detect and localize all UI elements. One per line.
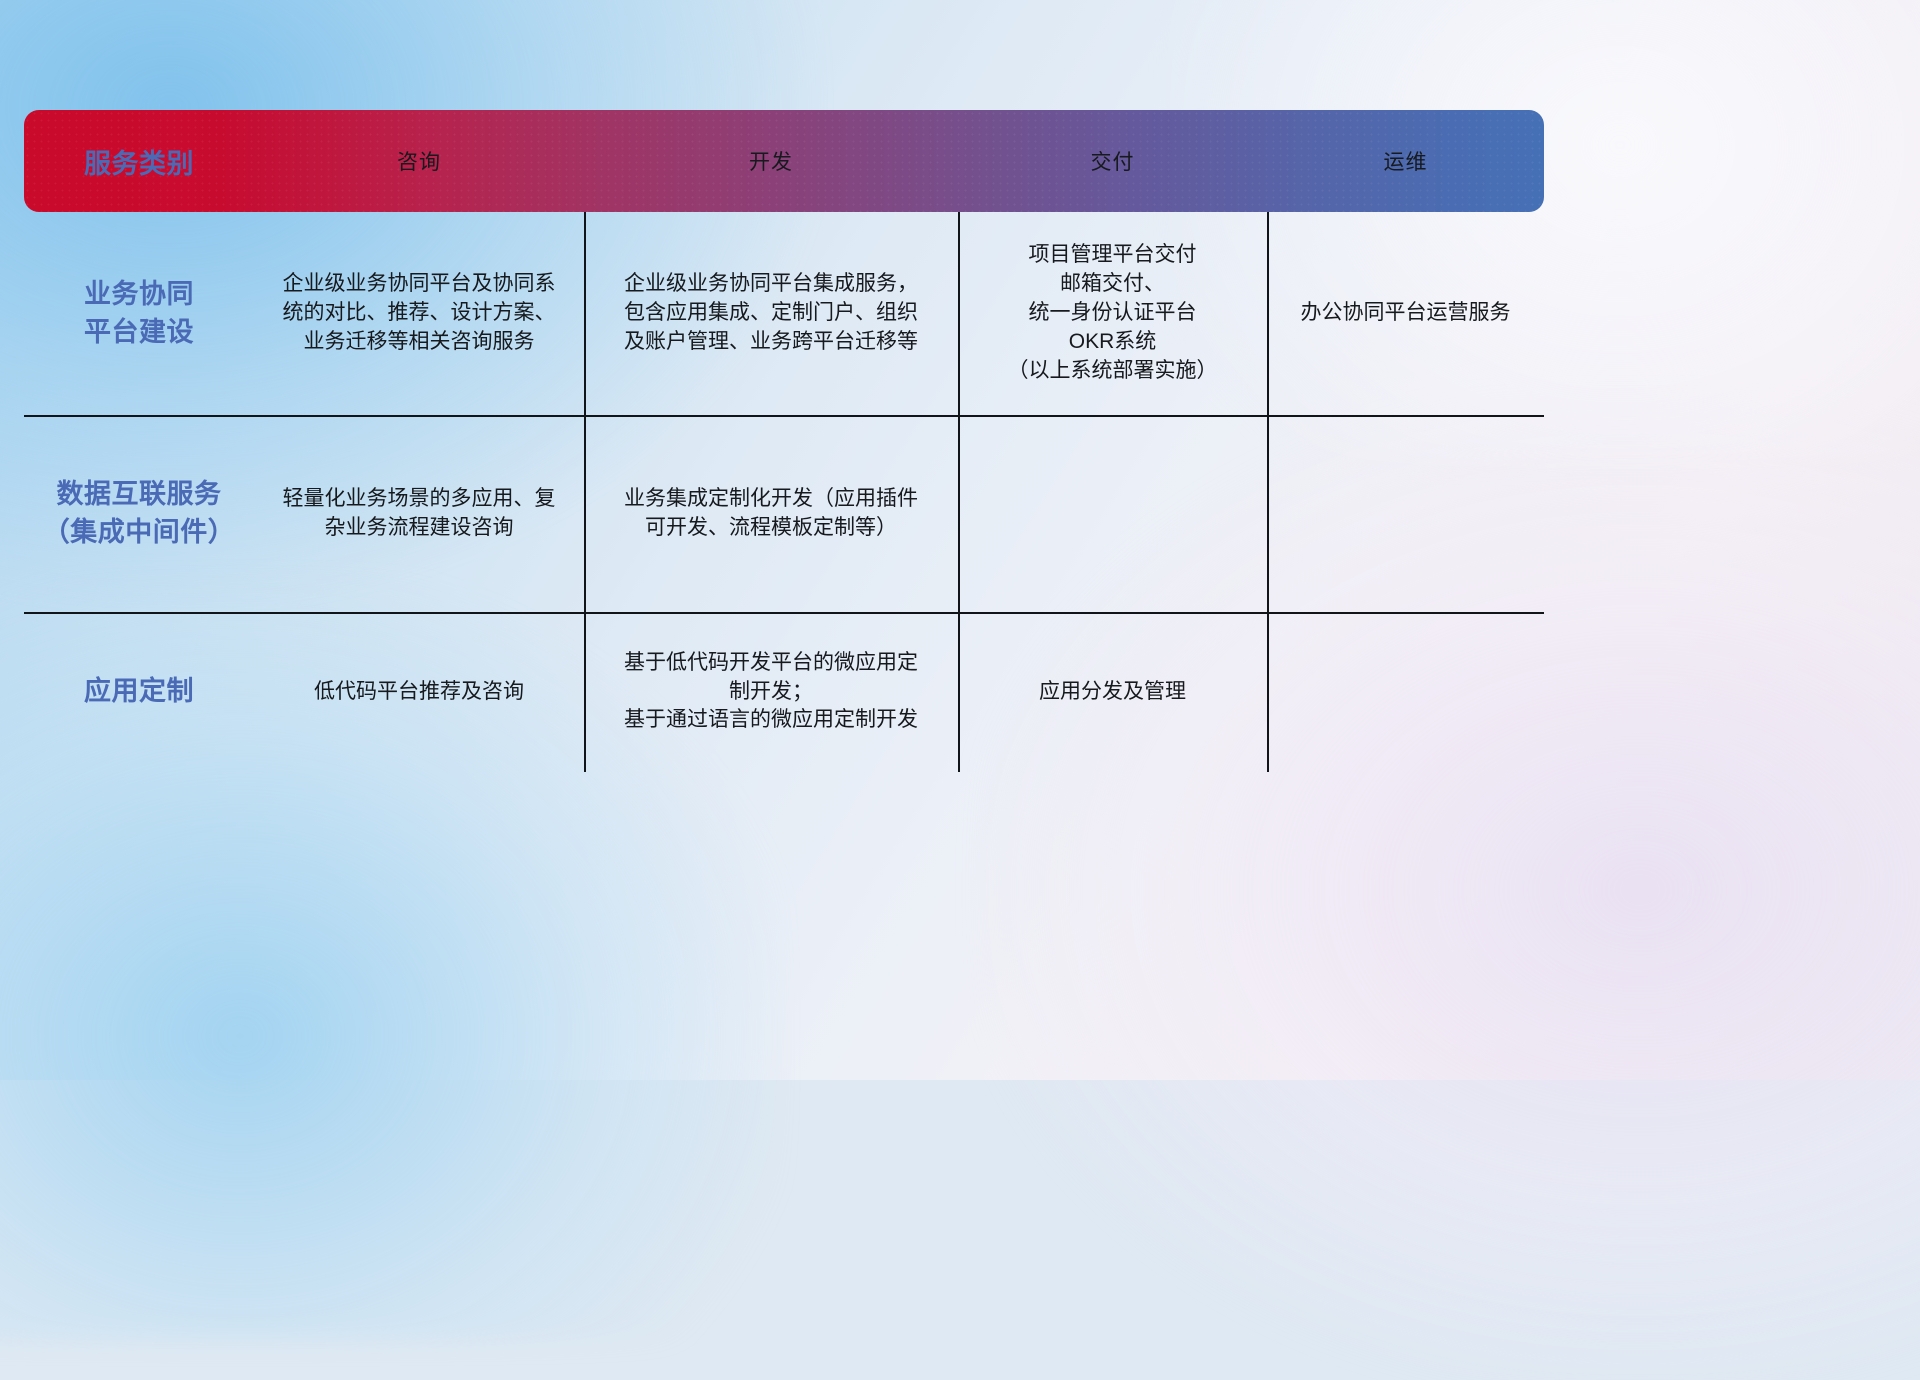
text-line: 包含应用集成、定制门户、组织: [624, 299, 918, 328]
text-line: 基于通过语言的微应用定制开发: [624, 706, 918, 735]
cell-text: 企业级业务协同平台集成服务，包含应用集成、定制门户、组织及账户管理、业务跨平台迁…: [624, 270, 918, 357]
cell-text: 基于低代码开发平台的微应用定制开发；基于通过语言的微应用定制开发: [624, 649, 918, 736]
cell-text: 应用分发及管理: [1039, 678, 1186, 707]
text-line: 邮箱交付、: [1008, 270, 1218, 299]
text-line: 数据互联服务: [43, 476, 236, 513]
text-line: 平台建设: [84, 314, 194, 351]
text-line: 业务集成定制化开发（应用插件: [624, 485, 918, 514]
cell-delivery: 应用分发及管理: [958, 612, 1267, 772]
cell-operations: 办公协同平台运营服务: [1267, 212, 1544, 415]
cell-delivery: 项目管理平台交付邮箱交付、统一身份认证平台OKR系统（以上系统部署实施）: [958, 212, 1267, 415]
table-header-row: 服务类别 咨询 开发 交付 运维: [24, 110, 1544, 212]
column-divider-development-delivery: [958, 212, 960, 772]
cell-consulting: 轻量化业务场景的多应用、复杂业务流程建设咨询: [254, 415, 584, 612]
cell-development: 企业级业务协同平台集成服务，包含应用集成、定制门户、组织及账户管理、业务跨平台迁…: [584, 212, 958, 415]
cell-text: 轻量化业务场景的多应用、复杂业务流程建设咨询: [283, 485, 556, 543]
row-separator: [24, 415, 1544, 417]
cell-development: 基于低代码开发平台的微应用定制开发；基于通过语言的微应用定制开发: [584, 612, 958, 772]
table-body: 业务协同平台建设 企业级业务协同平台及协同系统的对比、推荐、设计方案、业务迁移等…: [24, 212, 1544, 772]
cell-consulting: 企业级业务协同平台及协同系统的对比、推荐、设计方案、业务迁移等相关咨询服务: [254, 212, 584, 415]
cell-text: 企业级业务协同平台及协同系统的对比、推荐、设计方案、业务迁移等相关咨询服务: [283, 270, 556, 357]
cell-text: 业务集成定制化开发（应用插件可开发、流程模板定制等）: [624, 485, 918, 543]
text-line: OKR系统: [1008, 328, 1218, 357]
row-separator: [24, 612, 1544, 614]
text-line: （集成中间件）: [43, 514, 236, 551]
text-line: 杂业务流程建设咨询: [283, 514, 556, 543]
column-divider-consulting-development: [584, 212, 586, 772]
text-line: 基于低代码开发平台的微应用定: [624, 649, 918, 678]
text-line: 项目管理平台交付: [1008, 241, 1218, 270]
text-line: 应用分发及管理: [1039, 678, 1186, 707]
cell-operations: [1267, 612, 1544, 772]
text-line: （以上系统部署实施）: [1008, 357, 1218, 386]
row-label-cell: 数据互联服务（集成中间件）: [24, 415, 254, 612]
table-row: 应用定制 低代码平台推荐及咨询 基于低代码开发平台的微应用定制开发；基于通过语言…: [24, 612, 1544, 772]
service-matrix-table: 服务类别 咨询 开发 交付 运维 业务协同平台建设 企业级业务协同平台及协同系统…: [24, 110, 1544, 772]
text-line: 业务协同: [84, 276, 194, 313]
cell-text: 数据互联服务（集成中间件）: [43, 476, 236, 551]
cell-consulting: 低代码平台推荐及咨询: [254, 612, 584, 772]
table-row: 业务协同平台建设 企业级业务协同平台及协同系统的对比、推荐、设计方案、业务迁移等…: [24, 212, 1544, 415]
text-line: 低代码平台推荐及咨询: [314, 678, 524, 707]
header-cell-consulting: 咨询: [254, 146, 584, 176]
text-line: 企业级业务协同平台集成服务，: [624, 270, 918, 299]
table-row: 数据互联服务（集成中间件） 轻量化业务场景的多应用、复杂业务流程建设咨询 业务集…: [24, 415, 1544, 612]
cell-text: 低代码平台推荐及咨询: [314, 678, 524, 707]
header-cell-delivery: 交付: [958, 146, 1267, 176]
header-cell-development: 开发: [584, 146, 958, 176]
cell-text: 办公协同平台运营服务: [1301, 299, 1511, 328]
cell-text: 业务协同平台建设: [84, 276, 194, 351]
text-line: 统一身份认证平台: [1008, 299, 1218, 328]
text-line: 可开发、流程模板定制等）: [624, 514, 918, 543]
header-cell-category: 服务类别: [24, 142, 254, 181]
cell-development: 业务集成定制化开发（应用插件可开发、流程模板定制等）: [584, 415, 958, 612]
column-divider-delivery-operations: [1267, 212, 1269, 772]
text-line: 制开发；: [624, 678, 918, 707]
cell-operations: [1267, 415, 1544, 612]
cell-delivery: [958, 415, 1267, 612]
text-line: 企业级业务协同平台及协同系: [283, 270, 556, 299]
text-line: 统的对比、推荐、设计方案、: [283, 299, 556, 328]
row-label-cell: 应用定制: [24, 612, 254, 772]
row-label-cell: 业务协同平台建设: [24, 212, 254, 415]
header-cell-operations: 运维: [1267, 146, 1544, 176]
cell-text: 项目管理平台交付邮箱交付、统一身份认证平台OKR系统（以上系统部署实施）: [1008, 241, 1218, 386]
text-line: 办公协同平台运营服务: [1301, 299, 1511, 328]
cell-text: 应用定制: [84, 673, 194, 710]
text-line: 业务迁移等相关咨询服务: [283, 328, 556, 357]
text-line: 应用定制: [84, 673, 194, 710]
text-line: 轻量化业务场景的多应用、复: [283, 485, 556, 514]
text-line: 及账户管理、业务跨平台迁移等: [624, 328, 918, 357]
